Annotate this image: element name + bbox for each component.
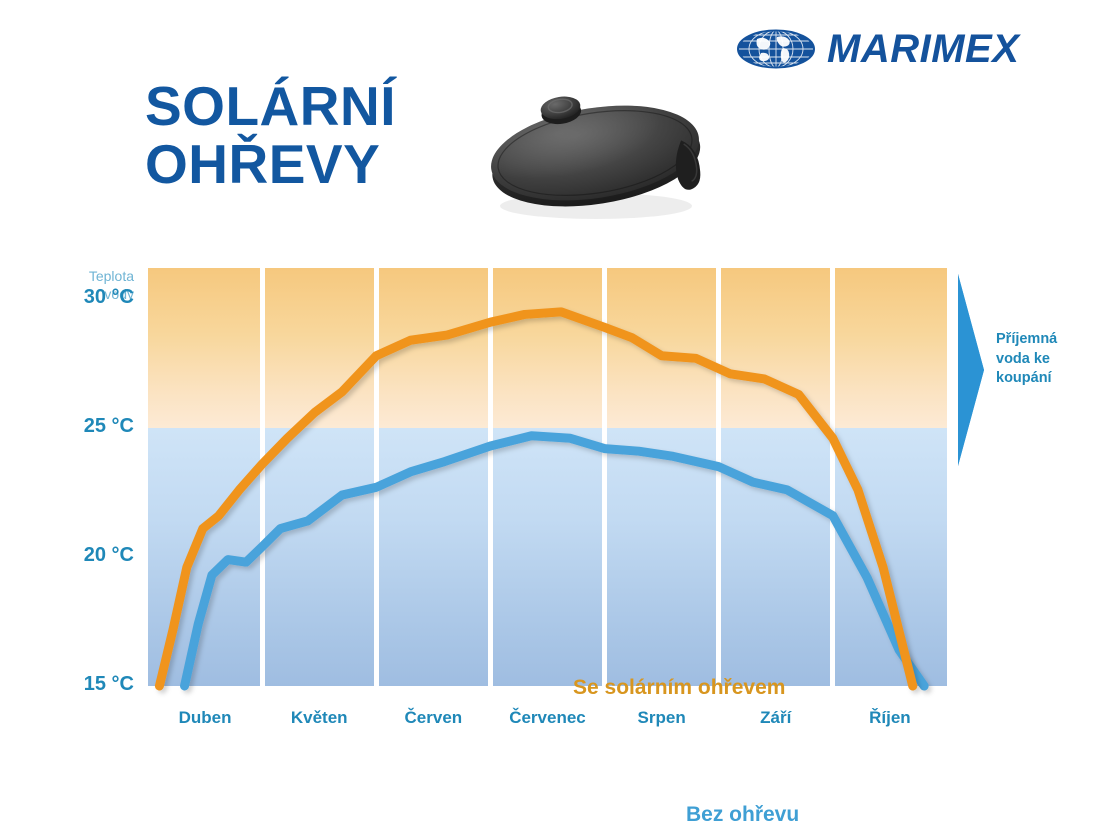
series-label-plain: Bez ohřevu: [686, 803, 799, 827]
annotation-text: Příjemná voda ke koupání: [996, 330, 1106, 389]
brand-logo: MARIMEX: [737, 25, 1042, 73]
series-label-solar: Se solárním ohřevem: [573, 676, 785, 700]
x-label-duben: Duben: [148, 708, 262, 742]
page-title: SOLÁRNÍ OHŘEVY: [145, 78, 485, 194]
globe-icon: [737, 29, 815, 69]
comfortable-water-annotation: Příjemná voda ke koupání: [952, 272, 1110, 472]
annotation-line-1: Příjemná: [996, 330, 1106, 350]
y-tick-15: 15 °C: [84, 673, 134, 696]
y-tick-25: 25 °C: [84, 415, 134, 438]
page-title-line-1: SOLÁRNÍ: [145, 75, 396, 137]
x-label-kveten: Květen: [262, 708, 376, 742]
series-lines: [148, 268, 947, 686]
annotation-line-2: voda ke: [996, 350, 1106, 370]
infographic-root: SOLÁRNÍ OHŘEVY: [0, 0, 1110, 780]
temperature-chart: Se solárním ohřevem Bez ohřevu: [148, 268, 947, 686]
x-axis: Duben Květen Červen Červenec Srpen Září …: [148, 708, 947, 742]
annotation-line-3: koupání: [996, 369, 1106, 389]
y-tick-30: 30 °C: [84, 286, 134, 309]
x-label-cerven: Červen: [376, 708, 490, 742]
x-label-cervenec: Červenec: [490, 708, 604, 742]
line-bez-ohrevu: [185, 436, 925, 686]
y-tick-20: 20 °C: [84, 544, 134, 567]
solar-dome-heater-photo: [470, 58, 720, 238]
y-axis: Teplota vody 30 °C 25 °C 20 °C 15 °C: [0, 268, 134, 708]
brand-name: MARIMEX: [827, 29, 1019, 69]
page-title-line-2: OHŘEVY: [145, 136, 485, 194]
y-axis-title-line-1: Teplota: [0, 268, 134, 286]
left-pointing-bracket-icon: [952, 272, 992, 472]
x-label-rijen: Říjen: [833, 708, 947, 742]
x-label-srpen: Srpen: [605, 708, 719, 742]
x-label-zari: Září: [719, 708, 833, 742]
